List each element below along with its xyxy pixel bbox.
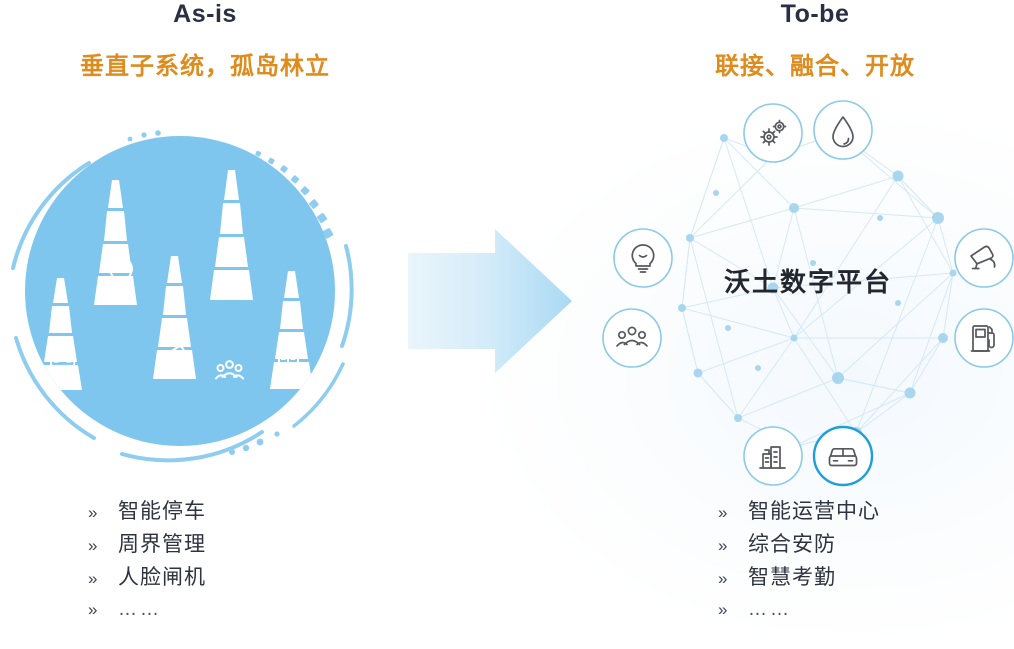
list-item: » 智能运营中心 xyxy=(718,500,1014,524)
to-be-bullet-list: » 智能运营中心 » 综合安防 » 智慧考勤 » …… xyxy=(718,500,1014,630)
chevron-double-right-icon: » xyxy=(88,570,118,587)
to-be-column-subtitle: 联接、融合、开放 xyxy=(655,46,975,81)
as-is-bullet-list: » 智能停车 » 周界管理 » 人脸闸机 » …… xyxy=(88,500,388,630)
node-factory-icon xyxy=(744,427,802,485)
list-item-label: 智能停车 xyxy=(118,500,206,524)
node-fuel-pump-icon xyxy=(955,309,1013,367)
chevron-double-right-icon: » xyxy=(718,570,748,587)
list-item: » 智慧考勤 xyxy=(718,566,1014,590)
node-gears-icon xyxy=(744,104,802,162)
chevron-double-right-icon: » xyxy=(718,537,748,554)
chevron-double-right-icon: » xyxy=(718,504,748,521)
node-water-drop-icon xyxy=(814,101,872,159)
node-people-group-icon xyxy=(603,309,661,367)
list-item-label: 智慧考勤 xyxy=(748,566,836,590)
list-item-label: 周界管理 xyxy=(118,533,206,557)
list-item-label: …… xyxy=(118,599,162,621)
list-item-label: 综合安防 xyxy=(748,533,836,557)
right-arrow-icon xyxy=(400,225,600,385)
list-item: » 智能停车 xyxy=(88,500,388,524)
as-is-silo-diagram xyxy=(0,108,374,478)
chevron-double-right-icon: » xyxy=(88,601,118,618)
list-item-label: 人脸闸机 xyxy=(118,566,206,590)
list-item: » …… xyxy=(718,599,1014,621)
slide-canvas: As-is 垂直子系统，孤岛林立 To-be 联接、融合、开放 xyxy=(0,0,1014,649)
list-item: » 周界管理 xyxy=(88,533,388,557)
list-item-label: …… xyxy=(748,599,792,621)
list-item: » …… xyxy=(88,599,388,621)
node-car-icon xyxy=(814,427,872,485)
list-item: » 综合安防 xyxy=(718,533,1014,557)
as-is-column-subtitle: 垂直子系统，孤岛林立 xyxy=(35,46,375,81)
chevron-double-right-icon: » xyxy=(88,537,118,554)
to-be-column-title: To-be xyxy=(690,0,940,29)
platform-center-label: 沃土数字平台 xyxy=(598,262,1014,299)
list-item-label: 智能运营中心 xyxy=(748,500,880,524)
as-is-column-title: As-is xyxy=(75,0,335,29)
chevron-double-right-icon: » xyxy=(718,601,748,618)
list-item: » 人脸闸机 xyxy=(88,566,388,590)
chevron-double-right-icon: » xyxy=(88,504,118,521)
